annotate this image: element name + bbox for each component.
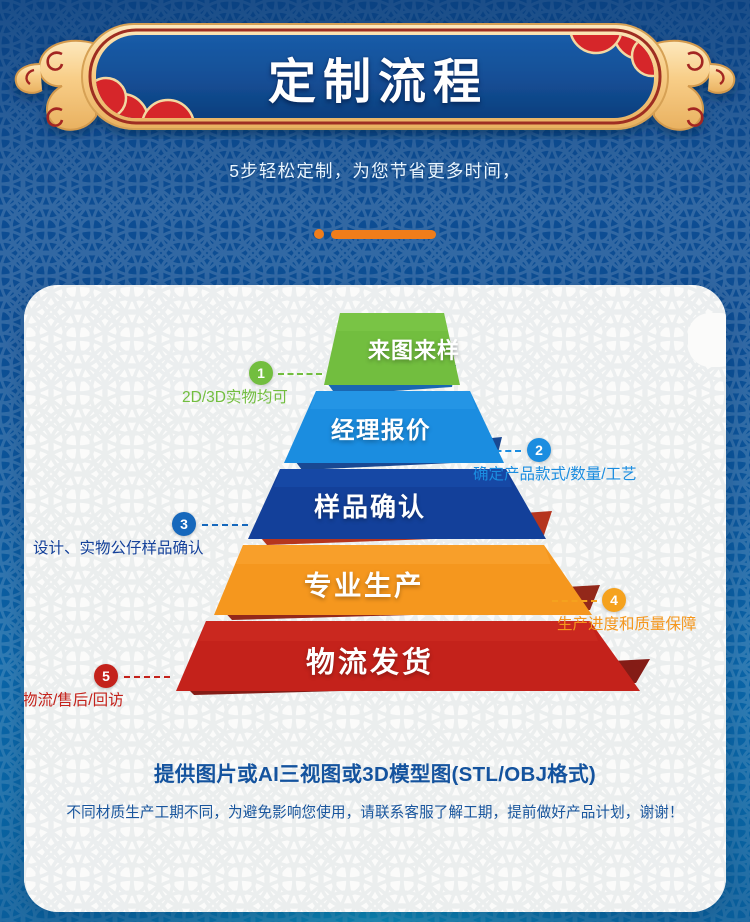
divider-dot: [314, 229, 324, 239]
footer-line-2: 不同材质生产工期不同，为避免影响您使用，请联系客服了解工期，提前做好产品计划，谢…: [24, 801, 726, 822]
page-title: 定制流程: [0, 14, 750, 139]
step-badge-5: 5: [94, 664, 118, 688]
header-subtitle: 5步轻松定制，为您节省更多时间，: [0, 158, 750, 183]
step-connector-5: [124, 676, 170, 678]
step-connector-3: [202, 524, 248, 526]
tier-title-5: 物流发货: [306, 639, 434, 681]
content-card: 来图来样 经理报价 样品确认 专业生产 物流发货 1 2D/3D实物均可 2 确…: [24, 285, 726, 912]
divider-ornament: [0, 229, 750, 239]
step-note-2: 确定产品款式/数量/工艺: [473, 462, 637, 484]
tier-title-3: 样品确认: [314, 487, 426, 524]
step-badge-1: 1: [249, 361, 273, 385]
card-notch-bottom-right: [688, 830, 726, 884]
card-notch-bottom-left: [24, 830, 62, 884]
step-note-3: 设计、实物公仔样品确认: [33, 536, 204, 558]
tier-title-1: 来图来样: [368, 333, 460, 365]
step-badge-2: 2: [527, 438, 551, 462]
step-note-1: 2D/3D实物均可: [182, 385, 288, 407]
step-connector-4: [552, 600, 597, 602]
divider-bar: [331, 230, 436, 239]
step-connector-1: [278, 373, 322, 375]
step-note-4: 生产进度和质量保障: [557, 612, 697, 634]
tier-title-4: 专业生产: [304, 563, 424, 603]
step-badge-4: 4: [602, 588, 626, 612]
tier-title-2: 经理报价: [331, 411, 431, 445]
step-badge-3: 3: [172, 512, 196, 536]
footer-line-1: 提供图片或AI三视图或3D模型图(STL/OBJ格式): [24, 757, 726, 787]
header-banner: 定制流程: [0, 14, 750, 139]
step-connector-2: [476, 450, 521, 452]
step-note-5: 物流/售后/回访: [24, 688, 124, 710]
